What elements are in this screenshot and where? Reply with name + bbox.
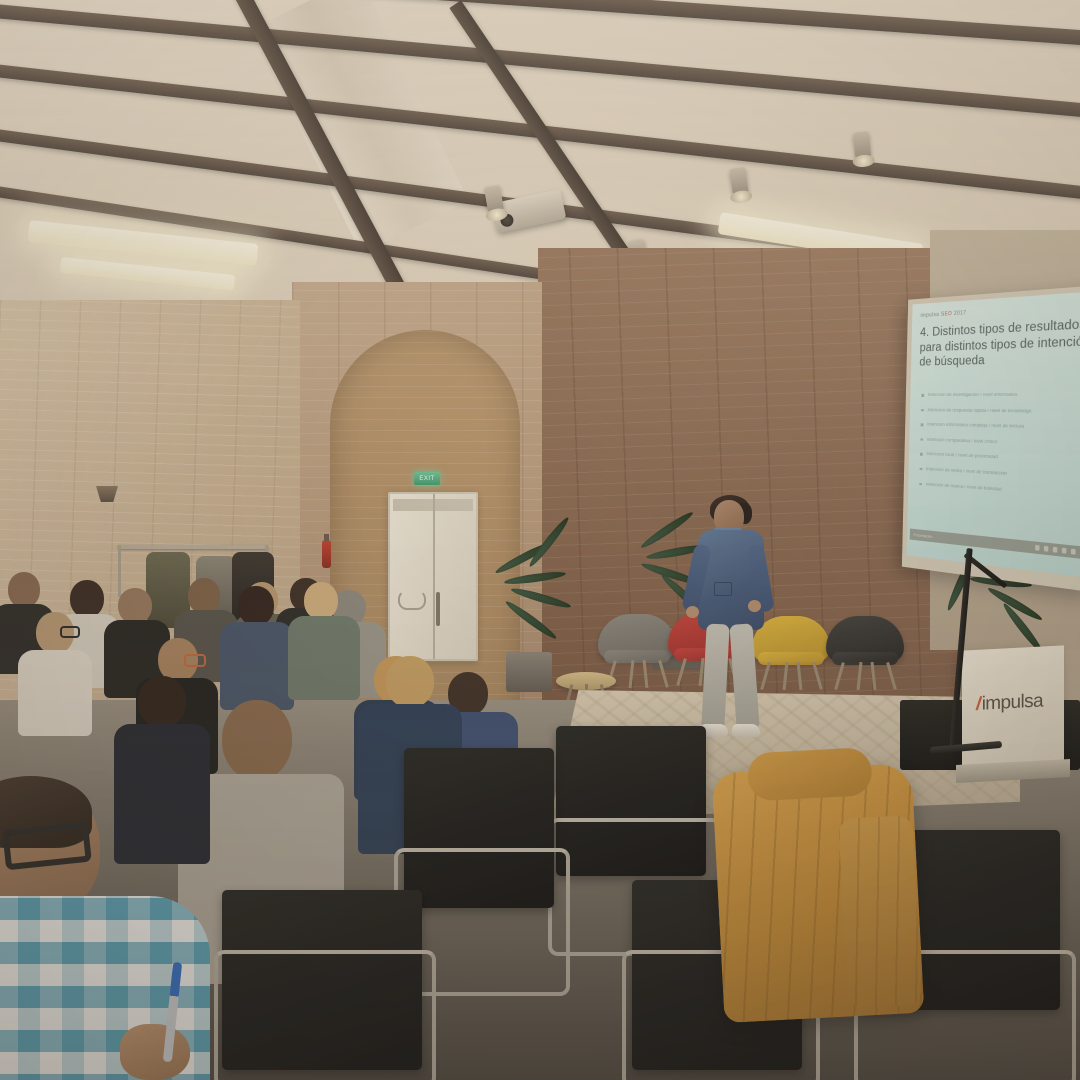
slide-brand-suffix: 2017 [954,310,967,317]
toolbar-label: Presentación [913,532,932,538]
slide-bullet: Intención local / nivel de proximidad [920,452,1080,465]
next-slide-button[interactable] [1053,547,1058,553]
impulsa-logo: / impulsa [976,690,1043,716]
fullscreen-button[interactable] [1071,549,1076,555]
slide-bullet: Intención de venta / nivel de transacció… [920,467,1080,481]
palm-frond [504,599,559,642]
projection-screen: impulsa SEO 2017 4. Distintos tipos de r… [902,285,1080,593]
coat-rack-leg [118,545,121,597]
person-hand [120,1024,190,1080]
presentation-toolbar[interactable]: Presentación [910,529,1080,560]
slide-title: 4. Distintos tipos de resultados para di… [919,317,1080,371]
photo-canvas: EXIT [0,0,1080,1080]
slide-brand-prefix: impulsa [920,312,939,319]
lectern: / impulsa [962,645,1064,768]
grey-eames-chair [598,614,676,678]
person-head [386,656,434,708]
foreground-attendee [0,786,270,1080]
palm-frond [639,509,695,550]
slide-bullet: Intención comparativa / nivel crítico [920,437,1080,448]
jacket-sleeve [838,815,922,1009]
slide-bullet: Intención de investigación / nivel infor… [921,392,1080,397]
logo-text: impulsa [982,690,1043,715]
speaker-jeans [704,624,758,732]
fluorescent-strip-light [60,257,236,291]
play-button[interactable] [1044,546,1049,552]
person-body [18,650,92,736]
speaker-shoe [732,724,760,737]
person-head [138,676,186,728]
eyeglasses [184,654,206,667]
speaker [690,500,780,750]
fire-extinguisher [322,540,331,568]
draped-puffer-jacket [712,763,925,1023]
jacket-hood [747,747,873,801]
eyeglasses [60,626,80,638]
pause-button[interactable] [1062,548,1067,554]
speaker-hand [686,606,699,618]
palm-frond [504,570,567,587]
coat-rack [118,545,268,549]
slide-brand-accent: SEO [941,311,952,318]
double-exit-door[interactable] [388,492,478,661]
track-spotlight [729,167,748,195]
potted-palm [500,520,610,690]
slide-bullet: Intención informativa compleja / nivel d… [921,423,1080,432]
plant-pot [506,652,552,692]
person-body [288,616,360,700]
slide-bullet: Intención de marca / nivel de fidelidad [919,482,1080,498]
person-head [70,580,104,618]
person-head [238,586,274,626]
speaker-leg [729,623,759,728]
slide-bullet: Intención de respuesta rápida / nivel de… [921,408,1080,415]
door-handle[interactable] [436,592,440,626]
slide-bullet-list: Intención de investigación / nivel infor… [919,392,1080,509]
door-mullion [433,494,435,659]
person-body [220,622,294,710]
presentation-slide: impulsa SEO 2017 4. Distintos tipos de r… [907,291,1080,579]
speaker-leg [701,623,729,728]
person-head [222,700,292,780]
person-head [188,578,220,614]
prev-slide-button[interactable] [1035,545,1040,551]
chair-legs [608,660,666,686]
round-side-table [556,672,616,690]
slide-brand-line: impulsa SEO 2017 [920,310,966,319]
exit-sign: EXIT [414,472,440,485]
track-spotlight [853,131,872,159]
person-head [304,582,338,620]
palm-frond [527,515,571,569]
person-head [8,572,40,608]
shirt-pocket [714,582,732,596]
door-push-bar[interactable] [398,590,426,610]
person-head [118,588,152,624]
black-eames-chair [826,616,904,680]
chair-legs [836,662,894,688]
speaker-hand [748,600,761,612]
track-spotlight [484,185,504,213]
